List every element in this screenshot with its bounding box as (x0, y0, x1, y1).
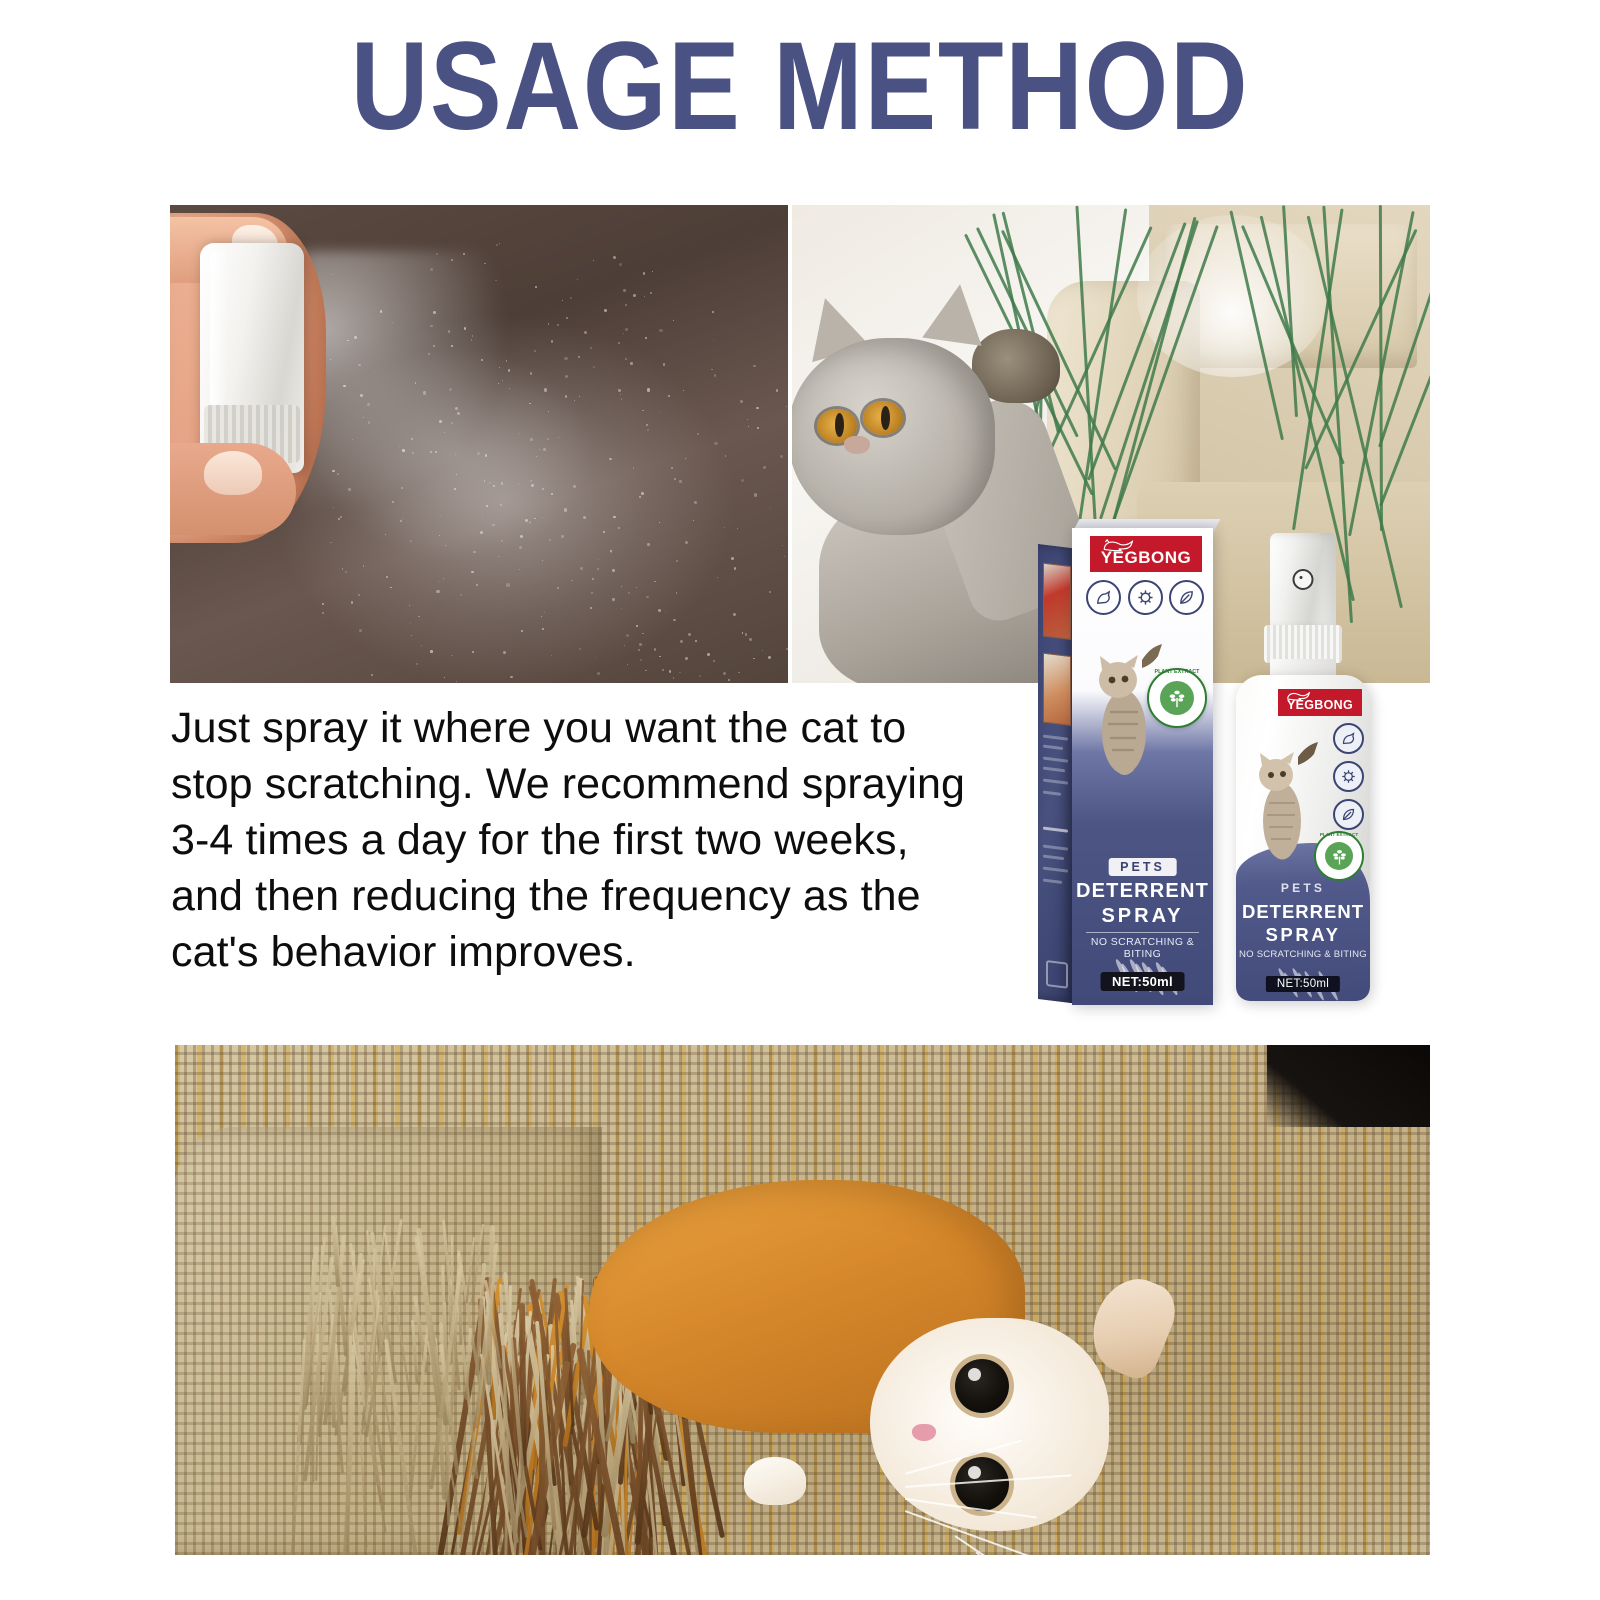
usage-description: Just spray it where you want the cat to … (171, 700, 1026, 980)
usage-line-1: Just spray it where you want the cat to (171, 700, 1026, 756)
side-panel-photo-2 (1043, 653, 1071, 726)
side-panel-text-line (1043, 745, 1063, 750)
orange-cat-eye-upper (955, 1359, 1009, 1413)
side-panel-text-line (1043, 879, 1062, 884)
plant-extract-label: PLANT EXTRACT (1316, 832, 1362, 837)
usage-line-4: and then reducing the frequency as the (171, 868, 1026, 924)
side-panel-text-line (1043, 867, 1068, 873)
germ-shield-icon (1128, 580, 1163, 615)
leaf-natural-icon (1169, 580, 1204, 615)
nozzle-dot-icon (1293, 569, 1314, 590)
usage-line-3: 3-4 times a day for the first two weeks, (171, 812, 1026, 868)
net-volume-label: NET:50ml (1100, 972, 1185, 991)
side-panel-text-line (1043, 757, 1068, 763)
product-name-line1: DETERRENT (1072, 880, 1213, 903)
bottle-feature-badges (1333, 723, 1364, 830)
cat-head (792, 338, 995, 535)
side-panel-text-line (1043, 767, 1065, 773)
infographic-page: USAGE METHOD (0, 0, 1600, 1600)
divider-rule (1086, 932, 1199, 933)
cat-repel-icon (1333, 723, 1364, 754)
side-panel-photo-1 (1043, 563, 1071, 640)
bottle-collar (1264, 625, 1342, 663)
germ-shield-icon (1333, 761, 1364, 792)
dark-background-corner (1267, 1045, 1430, 1127)
bottle-tagline: NO SCRATCHING & BITING (1236, 949, 1370, 960)
side-panel-text-line (1043, 855, 1064, 861)
page-title: USAGE METHOD (112, 24, 1488, 149)
bottle-body: YEGBONG (1236, 675, 1370, 1001)
recycle-icon (1046, 960, 1068, 989)
photo-spray-demo (170, 205, 788, 683)
side-panel-text-line (1043, 845, 1068, 851)
bottle-plant-extract-badge: PLANT EXTRACT (1314, 831, 1364, 881)
carton-front-panel: YEGBONG (1072, 528, 1213, 1005)
spray-bottle: YEGBONG (1230, 533, 1378, 1005)
plant-extract-label: PLANT EXTRACT (1149, 669, 1205, 723)
orange-cat-eye-lower (955, 1457, 1009, 1511)
bottle-product-name-line2: SPRAY (1236, 924, 1370, 946)
bottle-product-name-line1: DETERRENT (1236, 901, 1370, 923)
tree-icon (1325, 842, 1353, 870)
bottle-brand-name: YEGBONG (1278, 698, 1362, 712)
usage-line-5: cat's behavior improves. (171, 924, 1026, 980)
cat-nose (844, 436, 870, 454)
cat-repel-icon (1086, 580, 1121, 615)
bottle-cap (1270, 533, 1336, 629)
pets-label: PETS (1108, 858, 1177, 876)
side-panel-heading-line (1043, 827, 1068, 833)
cat-logo-icon (1102, 539, 1136, 552)
side-panel-text-line (1043, 735, 1068, 741)
white-plant (1137, 215, 1328, 378)
bottle-net-volume-label: NET:50ml (1266, 976, 1340, 992)
product-shot: YEGBONG (1020, 505, 1420, 1025)
orange-cat (589, 1147, 1292, 1555)
cat-ear-right (922, 280, 989, 346)
plant-extract-badge: PLANT EXTRACT (1147, 668, 1207, 728)
usage-line-2: stop scratching. We recommend spraying (171, 756, 1026, 812)
bottle-kitten-photo (1242, 721, 1328, 863)
photo-scratched-armchair (175, 1045, 1430, 1555)
orange-cat-paw (744, 1457, 806, 1505)
product-tagline: NO SCRATCHING & BITING (1072, 936, 1213, 960)
product-carton: YEGBONG (1038, 528, 1213, 1005)
brand-logo-band: YEGBONG (1090, 536, 1202, 572)
feature-badges (1086, 580, 1204, 615)
bottle-brand-band: YEGBONG (1278, 689, 1362, 716)
mist-cloud (298, 251, 558, 511)
bottle-pets-label: PETS (1281, 881, 1325, 895)
carton-side-panel (1038, 544, 1074, 1003)
side-panel-text-line (1043, 779, 1068, 785)
fingernail-bottom (204, 451, 262, 495)
product-name-line2: SPRAY (1072, 905, 1213, 928)
cat-eye-right (863, 401, 903, 435)
leaf-natural-icon (1333, 799, 1364, 830)
side-panel-text-line (1043, 791, 1061, 796)
